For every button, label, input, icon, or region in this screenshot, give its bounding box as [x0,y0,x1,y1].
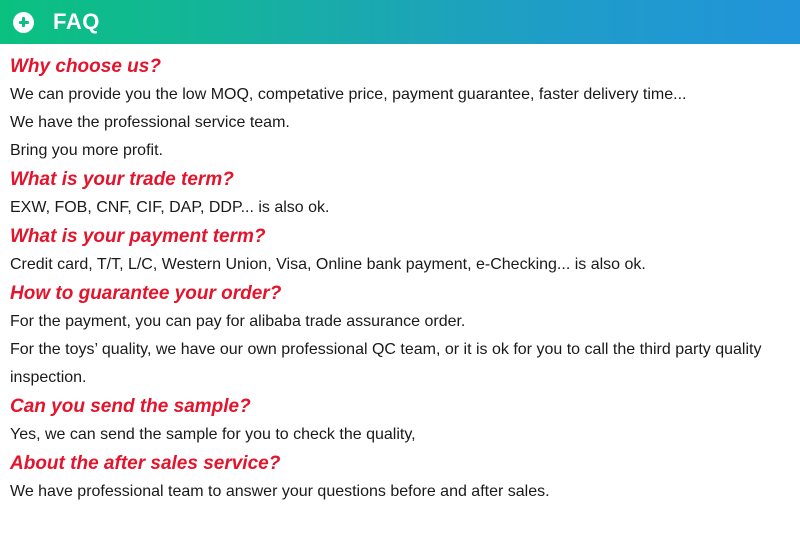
faq-answer: We have professional team to answer your… [10,478,790,506]
faq-question: What is your payment term? [10,222,790,251]
faq-answer: We have the professional service team. [10,109,790,137]
faq-question: About the after sales service? [10,449,790,478]
plus-circle-icon[interactable] [13,12,34,33]
faq-answer: For the payment, you can pay for alibaba… [10,308,790,336]
faq-header-bar: FAQ [0,0,800,44]
faq-item: What is your trade term? EXW, FOB, CNF, … [10,165,790,222]
faq-item: How to guarantee your order? For the pay… [10,279,790,392]
faq-answer: Bring you more profit. [10,137,790,165]
faq-answer: Credit card, T/T, L/C, Western Union, Vi… [10,251,790,279]
faq-answer: EXW, FOB, CNF, CIF, DAP, DDP... is also … [10,194,790,222]
faq-page: FAQ Why choose us? We can provide you th… [0,0,800,556]
faq-answer: We can provide you the low MOQ, competat… [10,81,790,109]
faq-item: About the after sales service? We have p… [10,449,790,506]
faq-question: Why choose us? [10,52,790,81]
page-title: FAQ [53,11,100,33]
faq-item: Why choose us? We can provide you the lo… [10,52,790,165]
faq-item: What is your payment term? Credit card, … [10,222,790,279]
faq-answer: For the toys’ quality, we have our own p… [10,336,785,392]
faq-question: How to guarantee your order? [10,279,790,308]
faq-question: What is your trade term? [10,165,790,194]
faq-answer: Yes, we can send the sample for you to c… [10,421,790,449]
faq-item: Can you send the sample? Yes, we can sen… [10,392,790,449]
faq-question: Can you send the sample? [10,392,790,421]
faq-content: Why choose us? We can provide you the lo… [0,44,800,506]
